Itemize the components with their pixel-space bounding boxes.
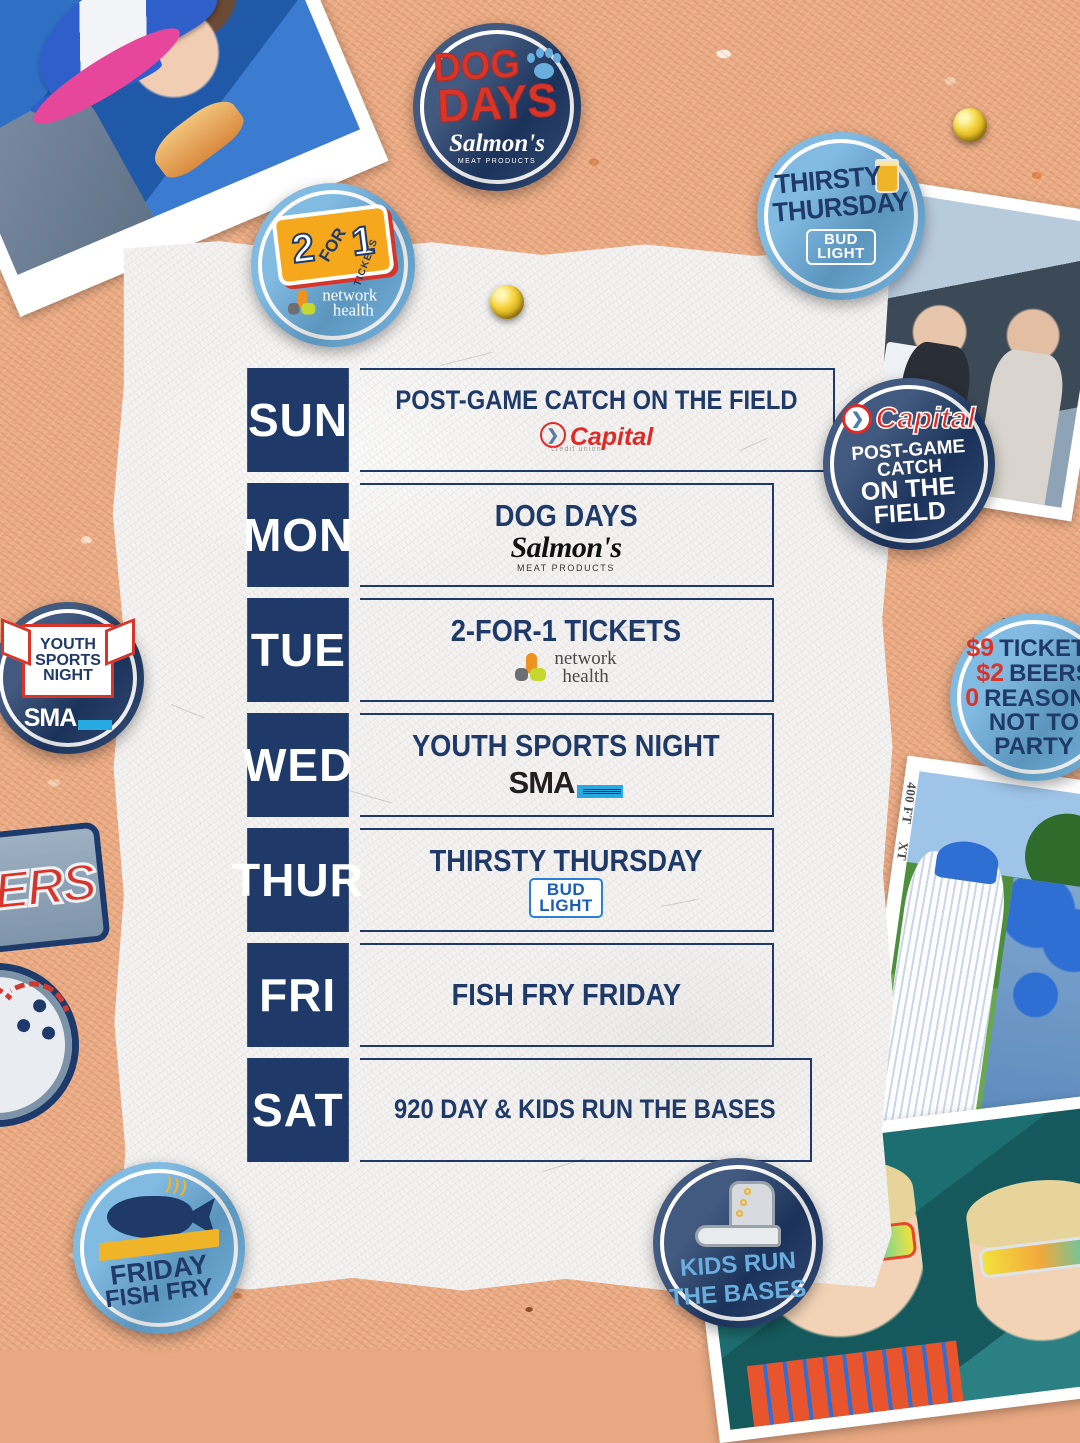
day-label: MON — [243, 508, 353, 562]
sponsor-name: Capital — [570, 426, 653, 449]
day-label: THUR — [232, 853, 364, 907]
network-health-blocks-icon — [515, 653, 549, 683]
day-cell-wed: WED — [247, 713, 349, 817]
event-title: YOUTH SPORTS NIGHT — [412, 730, 720, 762]
photo-label-xt: XT — [893, 841, 911, 862]
event-title: 920 DAY & KIDS RUN THE BASES — [394, 1096, 776, 1124]
day-cell-sun: SUN — [247, 368, 349, 472]
capital-logo: ❯ Capital — [842, 402, 975, 436]
day-label: WED — [243, 738, 353, 792]
table-row: TUE 2-FOR-1 TICKETS network health — [236, 598, 774, 702]
capital-chevron-icon: ❯ — [540, 422, 566, 448]
sma-bar-icon — [577, 785, 623, 798]
table-row: WED YOUTH SPORTS NIGHT SMA — [236, 713, 774, 817]
badge-number-left: 2 — [289, 225, 317, 272]
event-cell-mon: DOG DAYS Salmon's MEAT PRODUCTS — [360, 483, 774, 587]
sponsor-name: Salmon's — [510, 533, 621, 563]
badge-sponsor-name: SMA — [24, 704, 77, 733]
badge-sponsor-subtitle: MEAT PRODUCTS — [458, 158, 536, 165]
badge-deal-line-1: $9 TICKETS — [966, 636, 1080, 661]
badge-dog-days[interactable]: DOG DAYS Salmon's MEAT PRODUCTS — [413, 23, 581, 191]
sponsor-logo-network-health: network health — [515, 651, 616, 685]
deal-price-tickets: $9 — [966, 636, 994, 661]
day-label: FRI — [259, 968, 336, 1022]
badge-kids-run-the-bases[interactable]: KIDS RUN THE BASES — [653, 1158, 823, 1328]
steam-icon: ))) — [164, 1174, 191, 1198]
badge-sponsor-bud-light: BUD LIGHT — [806, 229, 876, 266]
deal-price-beers: $2 — [976, 661, 1004, 686]
day-cell-sat: SAT — [247, 1058, 349, 1162]
deal-word-tickets: TICKETS — [999, 637, 1080, 661]
badge-sponsor-line-2: health — [330, 303, 378, 318]
hoodie-shape — [0, 84, 161, 275]
table-row: SUN POST-GAME CATCH ON THE FIELD ❯ Capit… — [236, 368, 774, 472]
cleat-shoe-icon — [695, 1181, 781, 1247]
sponsor-logo-sma: SMA — [509, 766, 624, 800]
fish-on-platter-icon: ))) — [99, 1190, 219, 1254]
deal-tagline: NOT TO PARTY — [950, 711, 1080, 759]
event-cell-sun: POST-GAME CATCH ON THE FIELD ❯ Capital c… — [360, 368, 835, 472]
event-cell-tue: 2-FOR-1 TICKETS network health — [360, 598, 774, 702]
badge-friday-fish-fry[interactable]: ))) FRIDAY FISH FRY — [73, 1162, 245, 1334]
badge-sponsor-network-health: network health — [288, 288, 377, 319]
day-cell-mon: MON — [247, 483, 349, 587]
badge-line-1: YOUTH — [35, 637, 101, 652]
pushpin-icon[interactable] — [490, 285, 524, 319]
deal-word-beers: BEERS — [1009, 662, 1080, 686]
badge-line-2: ON THE FIELD — [822, 472, 997, 531]
badge-brand-name: Capital — [875, 402, 975, 436]
badge-line-2: DAYS — [436, 80, 558, 127]
event-cell-sat: 920 DAY & KIDS RUN THE BASES — [360, 1058, 812, 1162]
badge-capital-post-game-catch[interactable]: ❯ Capital POST-GAME CATCH ON THE FIELD — [823, 378, 995, 550]
event-cell-thur: THIRSTY THURSDAY BUD LIGHT — [360, 828, 774, 932]
baseball-patch — [0, 963, 79, 1128]
badge-deal-line-3: 0 REASONS — [965, 686, 1080, 711]
badge-2-for-1-tickets[interactable]: 2 FOR 1 TICKETS network health — [251, 183, 415, 347]
day-cell-thur: THUR — [247, 828, 349, 932]
photo-high-five-image — [871, 771, 1080, 1148]
capital-chevron-icon: ❯ — [842, 404, 872, 434]
sponsor-logo-salmons: Salmon's MEAT PRODUCTS — [510, 536, 621, 570]
badge-for-label: FOR — [315, 224, 351, 265]
day-label: SUN — [248, 393, 348, 447]
badge-sponsor-name: Salmon's — [449, 130, 545, 158]
table-row: THUR THIRSTY THURSDAY BUD LIGHT — [236, 828, 774, 932]
table-row: MON DOG DAYS Salmon's MEAT PRODUCTS — [236, 483, 774, 587]
deal-count-reasons: 0 — [965, 686, 979, 711]
badge-line-2: SPORTS — [35, 653, 101, 668]
sponsor-logo-bud-light: BUD LIGHT — [529, 881, 603, 915]
patch-dot — [32, 999, 46, 1013]
deal-word-reasons: REASONS — [984, 687, 1080, 711]
team-wordmark-text: ERS — [0, 821, 111, 959]
sponsor-subtitle: health — [562, 668, 616, 685]
badge-deal-line-4: NOT TO PARTY — [950, 711, 1080, 759]
pushpin-icon[interactable] — [953, 108, 987, 142]
network-health-blocks-icon — [288, 290, 318, 316]
event-cell-wed: YOUTH SPORTS NIGHT SMA — [360, 713, 774, 817]
event-title: FISH FRY FRIDAY — [451, 979, 680, 1011]
day-cell-tue: TUE — [247, 598, 349, 702]
patch-dot — [41, 1026, 55, 1040]
food-item-shape — [146, 91, 250, 184]
badge-thirsty-thursday[interactable]: THIRSTY THURSDAY BUD LIGHT — [757, 132, 925, 300]
table-row: FRI FISH FRY FRIDAY — [236, 943, 774, 1047]
day-label: TUE — [250, 623, 345, 677]
sponsor-subtitle: LIGHT — [539, 898, 593, 914]
jersey-icon: YOUTH SPORTS NIGHT — [22, 624, 114, 698]
team-wordmark-patch: ERS — [0, 821, 111, 959]
sponsor-name: SMA — [509, 765, 575, 801]
ticket-icon: 2 FOR 1 TICKETS — [271, 203, 395, 287]
badge-sponsor-line-2: LIGHT — [817, 247, 865, 261]
day-label: SAT — [252, 1083, 344, 1137]
sma-bar-icon — [78, 720, 112, 730]
day-cell-fri: FRI — [247, 943, 349, 1047]
event-title: 2-FOR-1 TICKETS — [451, 615, 681, 647]
badge-line-2: THE BASES — [669, 1277, 808, 1310]
badge-line-1: KIDS RUN — [679, 1249, 796, 1280]
promotions-schedule-table: SUN POST-GAME CATCH ON THE FIELD ❯ Capit… — [236, 368, 774, 1173]
patch-dot — [16, 1018, 30, 1032]
event-title: THIRSTY THURSDAY — [430, 845, 703, 877]
badge-ticket-beer-deals[interactable]: $9 TICKETS $2 BEERS 0 REASONS NOT TO PAR… — [950, 613, 1080, 781]
event-cell-fri: FISH FRY FRIDAY — [360, 943, 774, 1047]
event-title: DOG DAYS — [494, 500, 637, 532]
badge-sponsor-line-1: network — [323, 288, 378, 303]
sponsor-subtitle: MEAT PRODUCTS — [510, 564, 621, 573]
badge-deal-line-2: $2 BEERS — [976, 661, 1080, 686]
badge-line-3: NIGHT — [35, 668, 101, 683]
event-title: POST-GAME CATCH ON THE FIELD — [395, 387, 797, 415]
table-row: SAT 920 DAY & KIDS RUN THE BASES — [236, 1058, 774, 1162]
badge-sponsor-sma: SMA — [24, 704, 113, 733]
sponsor-subtitle: credit union — [551, 446, 602, 453]
embroidered-patch-group: ERS — [0, 820, 120, 1130]
badge-jersey-text: YOUTH SPORTS NIGHT — [35, 637, 101, 683]
